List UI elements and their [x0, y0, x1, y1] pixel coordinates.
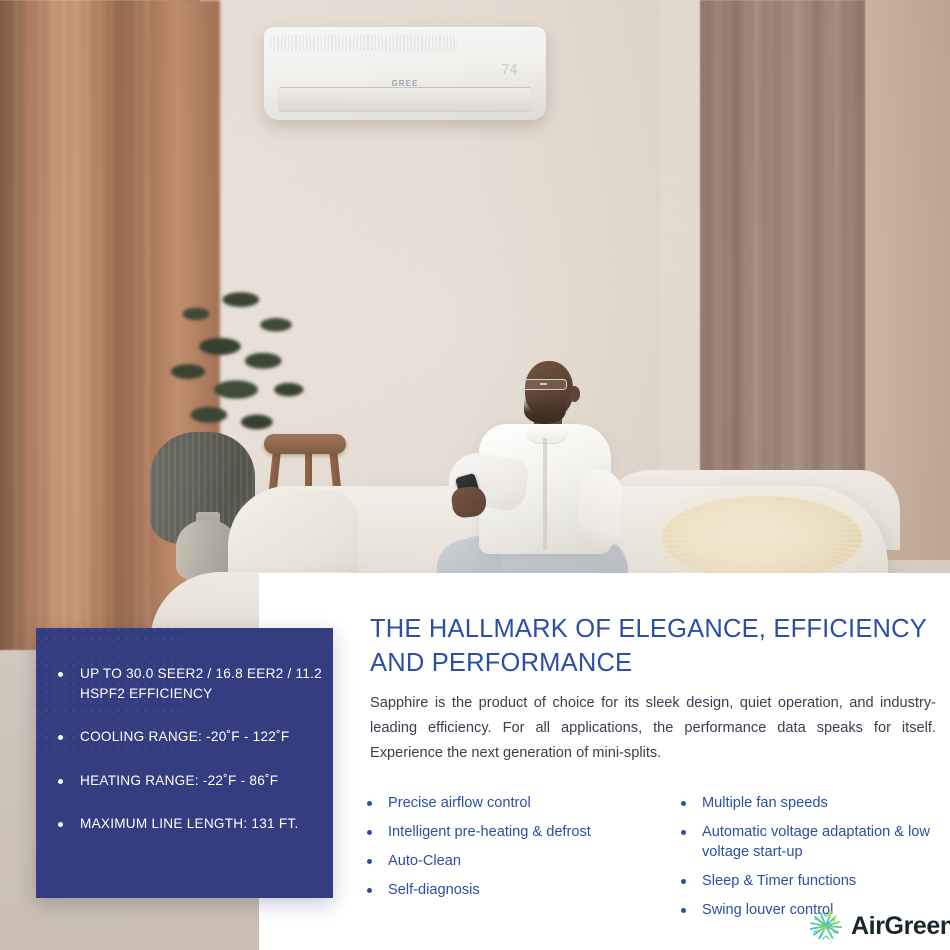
list-item: Automatic voltage adaptation & low volta…	[681, 822, 947, 862]
ac-intake-grille	[270, 35, 458, 51]
wooden-stool	[264, 434, 346, 454]
person-right-arm	[578, 470, 622, 548]
list-item: Sleep & Timer functions	[681, 871, 947, 891]
content-panel: THE HALLMARK OF ELEGANCE, EFFICIENCY AND…	[259, 573, 950, 950]
bullet-icon	[681, 908, 686, 913]
page-title: THE HALLMARK OF ELEGANCE, EFFICIENCY AND…	[370, 612, 930, 680]
bullet-icon	[367, 888, 372, 893]
bullet-icon	[367, 801, 372, 806]
ac-air-outlet	[278, 87, 532, 112]
person-collar	[526, 424, 568, 444]
bullet-icon	[367, 859, 372, 864]
mini-split-ac-unit: GREE 74	[264, 27, 546, 120]
feature-label: Intelligent pre-heating & defrost	[388, 822, 591, 842]
list-item: Self-diagnosis	[367, 880, 635, 900]
intro-paragraph: Sapphire is the product of choice for it…	[370, 691, 936, 766]
brand-logo[interactable]: AirGreen	[808, 908, 950, 944]
feature-label: Multiple fan speeds	[702, 793, 828, 813]
person-shirt-placket	[543, 438, 547, 550]
list-item: Precise airflow control	[367, 793, 635, 813]
feature-label: Sleep & Timer functions	[702, 871, 856, 891]
airgreen-burst-icon	[808, 908, 844, 944]
fluffy-cushion	[662, 496, 862, 580]
specifications-panel: UP TO 30.0 SEER2 / 16.8 EER2 / 11.2 HSPF…	[36, 628, 333, 898]
olive-plant-icon	[148, 278, 308, 458]
ac-temperature-display: 74	[501, 63, 518, 78]
feature-column-left: Precise airflow control Intelligent pre-…	[367, 793, 635, 929]
person-beard	[524, 398, 566, 424]
list-item: Auto-Clean	[367, 851, 635, 871]
brand-wordmark: AirGreen	[851, 912, 950, 941]
list-item: MAXIMUM LINE LENGTH: 131 FT.	[58, 814, 323, 834]
list-item: Intelligent pre-heating & defrost	[367, 822, 635, 842]
bullet-icon	[681, 830, 686, 835]
bullet-icon	[58, 672, 63, 677]
eyeglasses-icon	[518, 379, 567, 390]
bullet-icon	[681, 801, 686, 806]
list-item: COOLING RANGE: -20˚F - 122˚F	[58, 727, 323, 747]
spec-label: HEATING RANGE: -22˚F - 86˚F	[80, 771, 278, 791]
bullet-icon	[367, 830, 372, 835]
bullet-icon	[681, 879, 686, 884]
bullet-icon	[58, 779, 63, 784]
bullet-icon	[58, 735, 63, 740]
feature-label: Automatic voltage adaptation & low volta…	[702, 822, 947, 862]
specifications-list: UP TO 30.0 SEER2 / 16.8 EER2 / 11.2 HSPF…	[58, 664, 323, 858]
spec-label: UP TO 30.0 SEER2 / 16.8 EER2 / 11.2 HSPF…	[80, 664, 323, 703]
list-item: Multiple fan speeds	[681, 793, 947, 813]
spec-label: COOLING RANGE: -20˚F - 122˚F	[80, 727, 289, 747]
feature-label: Precise airflow control	[388, 793, 531, 813]
feature-label: Self-diagnosis	[388, 880, 480, 900]
person-ear	[569, 386, 580, 402]
bullet-icon	[58, 822, 63, 827]
feature-label: Auto-Clean	[388, 851, 461, 871]
list-item: UP TO 30.0 SEER2 / 16.8 EER2 / 11.2 HSPF…	[58, 664, 323, 703]
list-item: HEATING RANGE: -22˚F - 86˚F	[58, 771, 323, 791]
spec-label: MAXIMUM LINE LENGTH: 131 FT.	[80, 814, 299, 834]
